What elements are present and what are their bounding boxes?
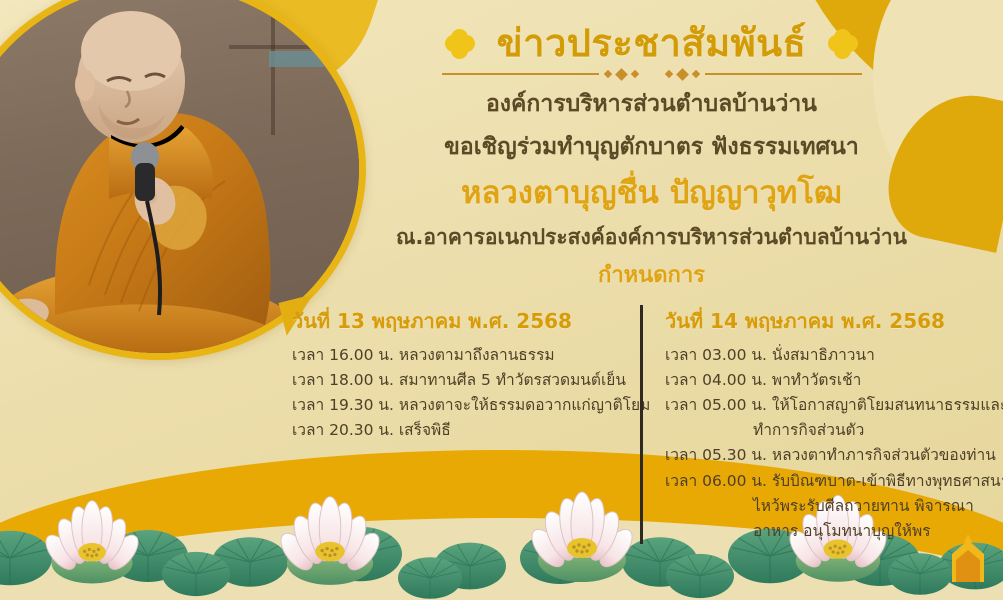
monk-name: หลวงตาบุญชื่น ปัญญาวุทโฒ [300, 173, 1003, 213]
schedule-item: เวลา 20.30 น. เสร็จพิธี [292, 418, 626, 443]
schedule-column-day2: วันที่ 14 พฤษภาคม พ.ศ. 2568 เวลา 03.00 น… [643, 305, 1003, 544]
schedule-item: เวลา 05.30 น. หลวงตาทำภารกิจส่วนตัวของท่… [665, 443, 1003, 468]
schedule-items-day2: เวลา 03.00 น. นั่งสมาธิภาวนาเวลา 04.00 น… [665, 343, 1003, 544]
schedule-item-continuation: ทำการกิจส่วนตัว [665, 418, 1003, 443]
schedule-section: วันที่ 13 พฤษภาคม พ.ศ. 2568 เวลา 16.00 น… [292, 305, 985, 544]
schedule-heading: กำหนดการ [300, 257, 1003, 292]
organization-name: องค์การบริหารส่วนตำบลบ้านว่าน [300, 89, 1003, 120]
title-row: ข่าวประชาสัมพันธ์ [300, 22, 1003, 66]
schedule-item: เวลา 04.00 น. พาทำวัตรเช้า [665, 368, 1003, 393]
invitation-text: ขอเชิญร่วมทำบุญตักบาตร ฟังธรรมเทศนา [300, 132, 1003, 163]
schedule-item: เวลา 03.00 น. นั่งสมาธิภาวนา [665, 343, 1003, 368]
announcement-poster: ข่าวประชาสัมพันธ์ องค์การบริหารส่วนตำบลบ… [0, 0, 1003, 600]
schedule-item: เวลา 19.30 น. หลวงตาจะให้ธรรมดอวากแก่ญาต… [292, 393, 626, 418]
schedule-item: เวลา 18.00 น. สมาทานศีล 5 ทำวัตรสวดมนต์เ… [292, 368, 626, 393]
quatrefoil-flower-icon-left [445, 29, 475, 59]
schedule-item: เวลา 16.00 น. หลวงตามาถึงลานธรรม [292, 343, 626, 368]
poster-content: ข่าวประชาสัมพันธ์ องค์การบริหารส่วนตำบลบ… [300, 0, 1003, 292]
schedule-column-day1: วันที่ 13 พฤษภาคม พ.ศ. 2568 เวลา 16.00 น… [292, 305, 640, 443]
schedule-items-day1: เวลา 16.00 น. หลวงตามาถึงลานธรรมเวลา 18.… [292, 343, 626, 443]
venue-text: ณ.อาคารอเนกประสงค์องค์การบริหารส่วนตำบลบ… [300, 223, 1003, 251]
schedule-item: เวลา 05.00 น. ให้โอกาสญาติโยมสนทนาธรรมแล… [665, 393, 1003, 418]
schedule-item-continuation: อาหาร อนุโมทนาบุญให้พร [665, 519, 1003, 544]
title-divider [442, 70, 862, 79]
quatrefoil-flower-icon-right [828, 29, 858, 59]
date-heading-day2: วันที่ 14 พฤษภาคม พ.ศ. 2568 [665, 305, 1003, 337]
date-heading-day1: วันที่ 13 พฤษภาคม พ.ศ. 2568 [292, 305, 626, 337]
schedule-item-continuation: ไหว้พระรับศีลถวายทาน พิจารณา [665, 494, 1003, 519]
page-title: ข่าวประชาสัมพันธ์ [497, 22, 807, 66]
schedule-item: เวลา 06.00 น. รับบิณฑบาต-เข้าพิธีทางพุทธ… [665, 469, 1003, 494]
